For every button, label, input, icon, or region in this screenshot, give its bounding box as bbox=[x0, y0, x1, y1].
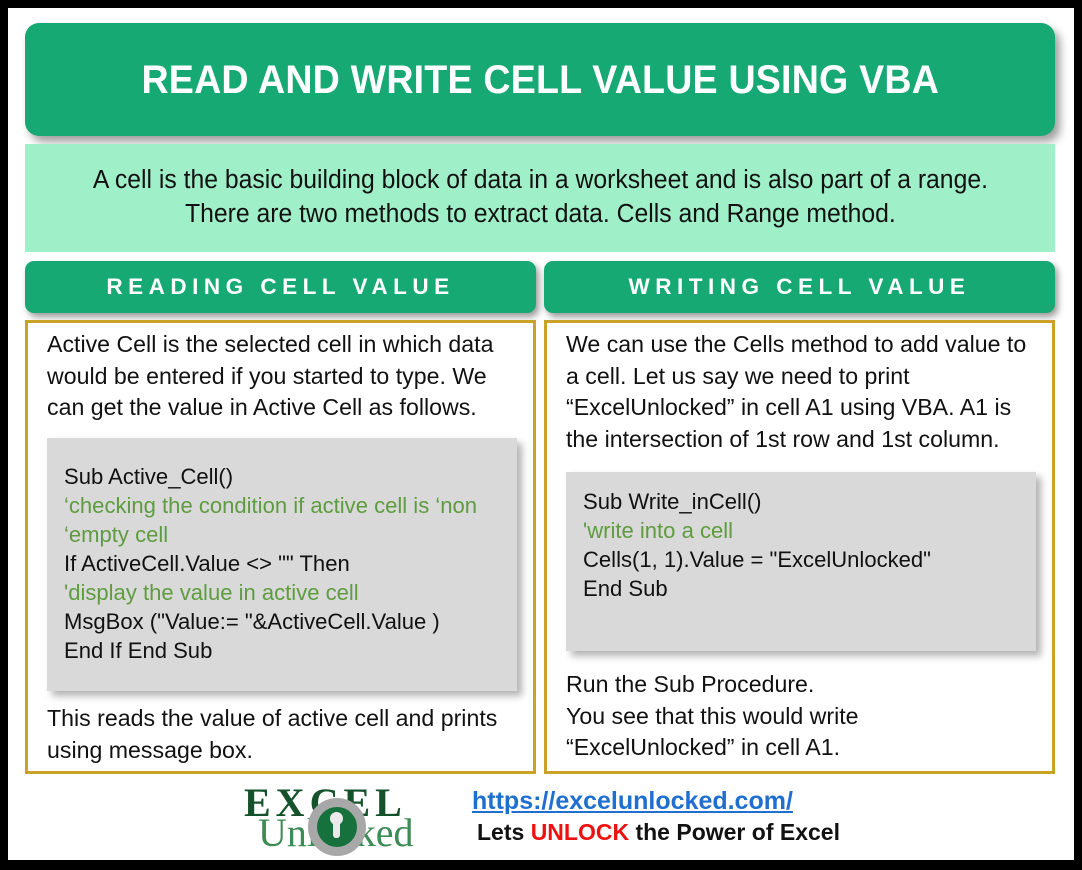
keyhole-icon bbox=[330, 812, 343, 825]
reading-intro-paragraph: Active Cell is the selected cell in whic… bbox=[47, 329, 510, 424]
section-header-reading-label: READING CELL VALUE bbox=[106, 274, 454, 300]
code-line-comment: 'write into a cell bbox=[583, 516, 1015, 545]
code-line: Sub Active_Cell() bbox=[64, 462, 496, 491]
code-block-reading: Sub Active_Cell() ‘checking the conditio… bbox=[47, 438, 517, 691]
section-header-writing: WRITING CELL VALUE bbox=[544, 261, 1055, 313]
poster-frame: READ AND WRITE CELL VALUE USING VBA A ce… bbox=[0, 0, 1082, 870]
page-title: READ AND WRITE CELL VALUE USING VBA bbox=[141, 58, 939, 102]
column-writing: WRITING CELL VALUE We can use the Cells … bbox=[544, 261, 1055, 774]
code-line-comment: ‘empty cell bbox=[64, 520, 496, 549]
writing-intro-paragraph: We can use the Cells method to add value… bbox=[566, 329, 1029, 456]
columns-container: READING CELL VALUE Active Cell is the se… bbox=[25, 261, 1055, 774]
footer: EXCEL Unlocked https://excelunlocked.com… bbox=[25, 776, 1055, 858]
code-line: End If End Sub bbox=[64, 636, 496, 665]
excel-unlocked-logo: EXCEL Unlocked bbox=[238, 779, 450, 855]
tagline-after: the Power of Excel bbox=[629, 819, 840, 845]
section-header-writing-label: WRITING CELL VALUE bbox=[629, 274, 971, 300]
column-reading: READING CELL VALUE Active Cell is the se… bbox=[25, 261, 536, 774]
intro-line-1: A cell is the basic building block of da… bbox=[92, 164, 987, 198]
tagline-highlight: UNLOCK bbox=[531, 819, 629, 845]
intro-band: A cell is the basic building block of da… bbox=[25, 144, 1055, 252]
section-body-writing: We can use the Cells method to add value… bbox=[544, 320, 1055, 774]
code-line-comment: 'display the value in active cell bbox=[64, 578, 496, 607]
code-line-comment: ‘checking the condition if active cell i… bbox=[64, 491, 496, 520]
footer-text-group: https://excelunlocked.com/ Lets UNLOCK t… bbox=[472, 787, 840, 846]
reading-outro-paragraph: This reads the value of active cell and … bbox=[47, 703, 510, 766]
intro-line-2: There are two methods to extract data. C… bbox=[92, 198, 987, 232]
code-block-writing: Sub Write_inCell() 'write into a cell Ce… bbox=[566, 472, 1036, 651]
tagline-before: Lets bbox=[477, 819, 531, 845]
section-body-reading: Active Cell is the selected cell in whic… bbox=[25, 320, 536, 774]
poster-canvas: READ AND WRITE CELL VALUE USING VBA A ce… bbox=[8, 8, 1074, 860]
code-line: If ActiveCell.Value <> "" Then bbox=[64, 549, 496, 578]
title-banner: READ AND WRITE CELL VALUE USING VBA bbox=[25, 23, 1055, 136]
tagline: Lets UNLOCK the Power of Excel bbox=[477, 819, 840, 847]
writing-outro-paragraph: Run the Sub Procedure. You see that this… bbox=[566, 669, 1029, 764]
website-link[interactable]: https://excelunlocked.com/ bbox=[472, 787, 793, 816]
section-header-reading: READING CELL VALUE bbox=[25, 261, 536, 313]
intro-text: A cell is the basic building block of da… bbox=[79, 164, 1002, 231]
code-line: Sub Write_inCell() bbox=[583, 487, 1015, 516]
code-line: MsgBox ("Value:= "&ActiveCell.Value ) bbox=[64, 607, 496, 636]
code-line: Cells(1, 1).Value = "ExcelUnlocked" bbox=[583, 545, 1015, 574]
code-line: End Sub bbox=[583, 574, 1015, 603]
